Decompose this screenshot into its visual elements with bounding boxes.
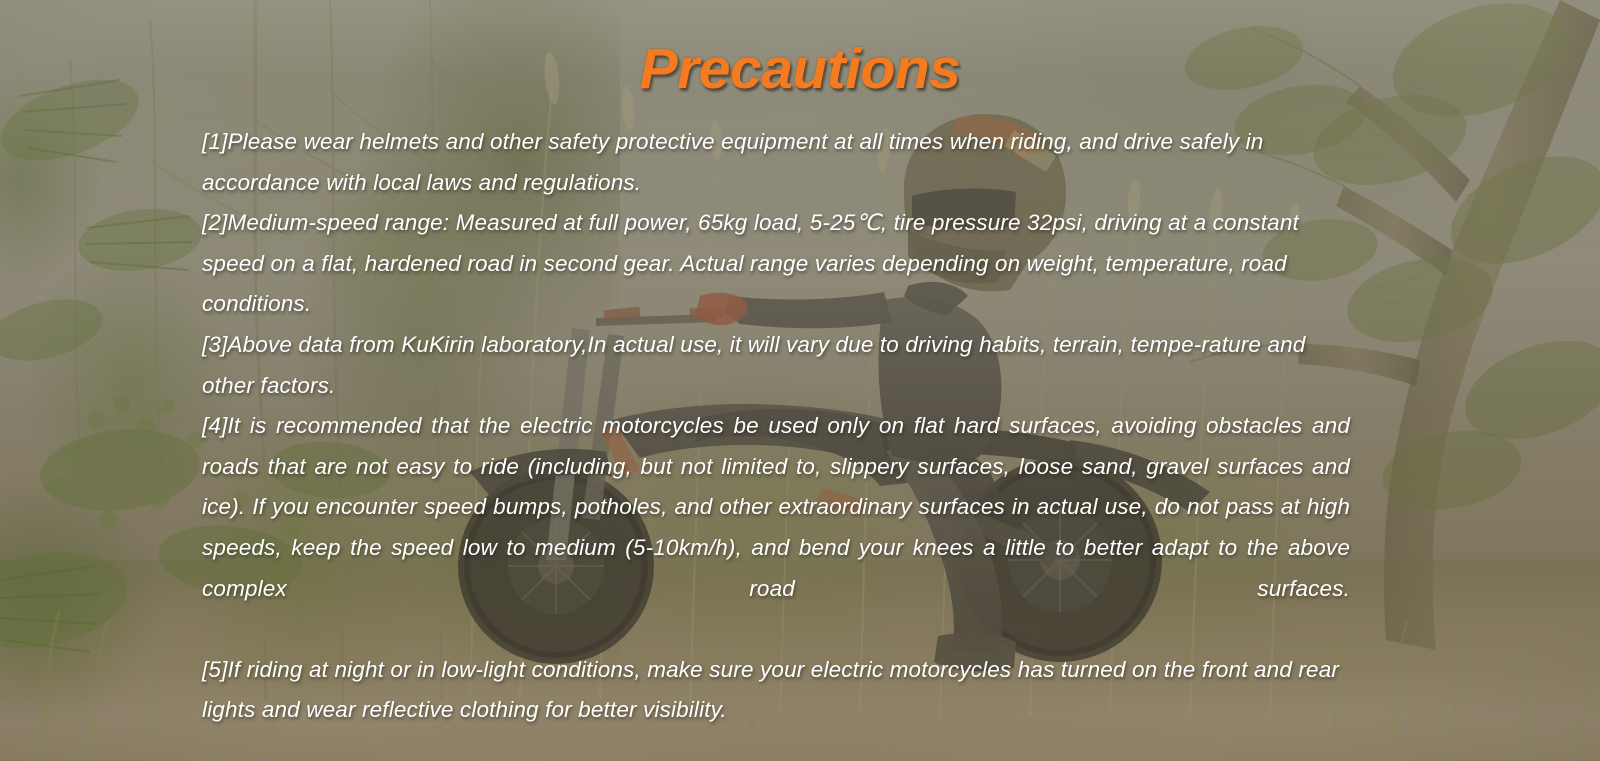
precaution-item-3: [3]Above data from KuKirin laboratory,In… (202, 325, 1350, 406)
precaution-item-1: [1]Please wear helmets and other safety … (202, 122, 1350, 203)
precautions-banner: Precautions [1]Please wear helmets and o… (0, 0, 1600, 761)
precaution-item-5: [5]If riding at night or in low-light co… (202, 650, 1350, 731)
precaution-item-2: [2]Medium-speed range: Measured at full … (202, 203, 1350, 325)
precaution-item-4: [4]It is recommended that the electric m… (202, 406, 1350, 650)
page-title: Precautions (0, 36, 1600, 102)
precautions-list: [1]Please wear helmets and other safety … (202, 122, 1350, 731)
